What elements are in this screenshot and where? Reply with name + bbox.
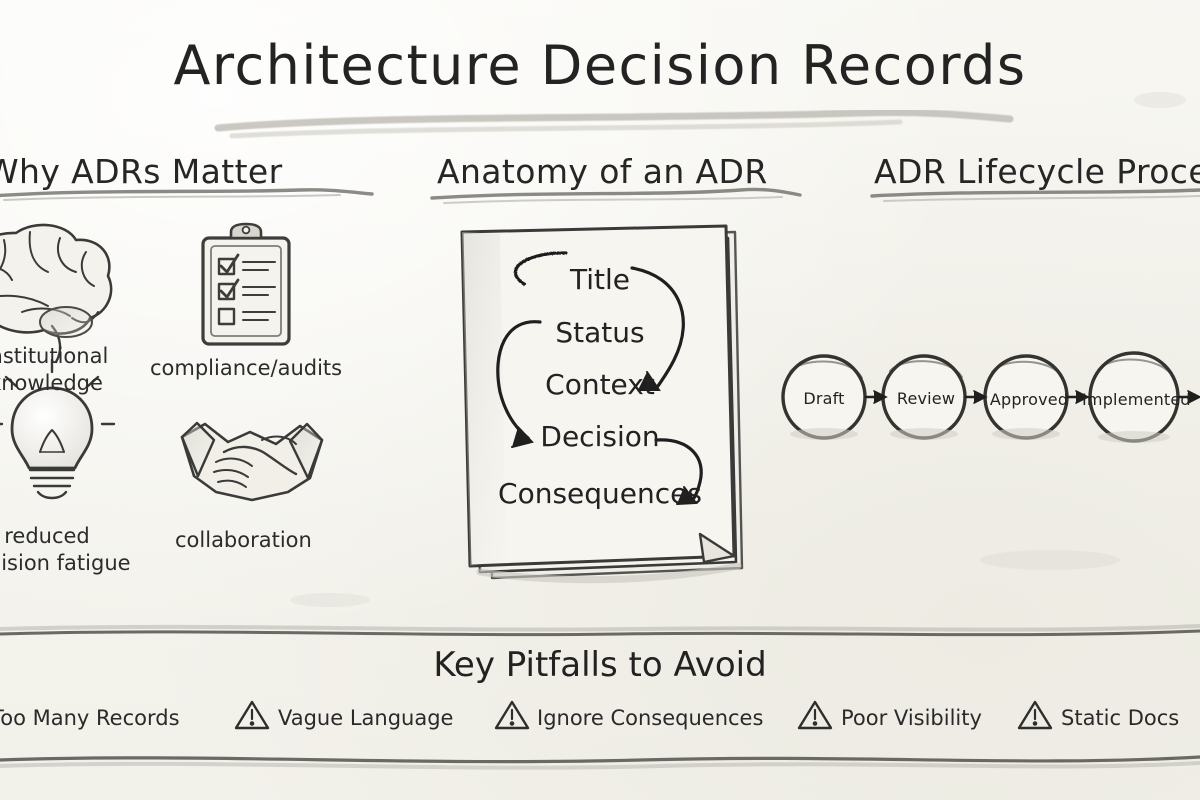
handshake-icon — [182, 423, 322, 500]
page-title: Architecture Decision Records — [0, 34, 1200, 97]
title-underline — [218, 113, 1010, 136]
warning-triangle-icon — [1019, 702, 1051, 728]
why-item-label-reduced-decision-fatigue: reduced decision fatigue — [0, 523, 142, 577]
lifecycle-stage-approved: Approved — [984, 390, 1074, 409]
anatomy-section-context: Context — [450, 368, 750, 401]
pitfall-label-static-docs: Static Docs — [1061, 706, 1179, 730]
pitfalls-bottom-divider — [0, 757, 1200, 768]
warning-triangle-icon — [799, 702, 831, 728]
warning-triangle-icon — [496, 702, 528, 728]
heading-underline-why — [0, 190, 372, 200]
section-heading-why: Why ADRs Matter — [0, 152, 283, 191]
pitfall-label-ignore-consequences: Ignore Consequences — [537, 706, 763, 730]
anatomy-section-decision: Decision — [450, 420, 750, 453]
clipboard-checklist-icon — [203, 224, 289, 344]
anatomy-section-consequences: Consequences — [450, 477, 750, 510]
why-item-label-collaboration: collaboration — [175, 527, 375, 554]
why-item-label-institutional-knowledge: institutional knowledge — [0, 343, 136, 397]
heading-underline-lifecycle — [872, 190, 1200, 201]
brain-icon — [0, 225, 111, 362]
section-heading-anatomy: Anatomy of an ADR — [437, 152, 768, 191]
why-item-label-compliance-audits: compliance/audits — [150, 355, 350, 382]
section-heading-lifecycle: ADR Lifecycle Process — [874, 152, 1200, 191]
lifecycle-stage-draft: Draft — [784, 389, 864, 408]
anatomy-section-status: Status — [450, 316, 750, 349]
lifecycle-stage-implemented: Implemented — [1082, 390, 1190, 409]
lifecycle-stage-review: Review — [884, 389, 968, 408]
warning-triangle-icon — [236, 702, 268, 728]
pitfalls-top-divider — [0, 626, 1200, 635]
heading-underline-anatomy — [432, 189, 800, 203]
pitfall-label-vague-language: Vague Language — [278, 706, 453, 730]
whiteboard-poster: Architecture Decision Records Why ADRs M… — [0, 0, 1200, 800]
pitfall-label-too-many-records: Too Many Records — [0, 706, 180, 730]
pitfall-label-poor-visibility: Poor Visibility — [841, 706, 982, 730]
pitfalls-heading: Key Pitfalls to Avoid — [0, 645, 1200, 685]
anatomy-section-title: Title — [450, 263, 750, 296]
